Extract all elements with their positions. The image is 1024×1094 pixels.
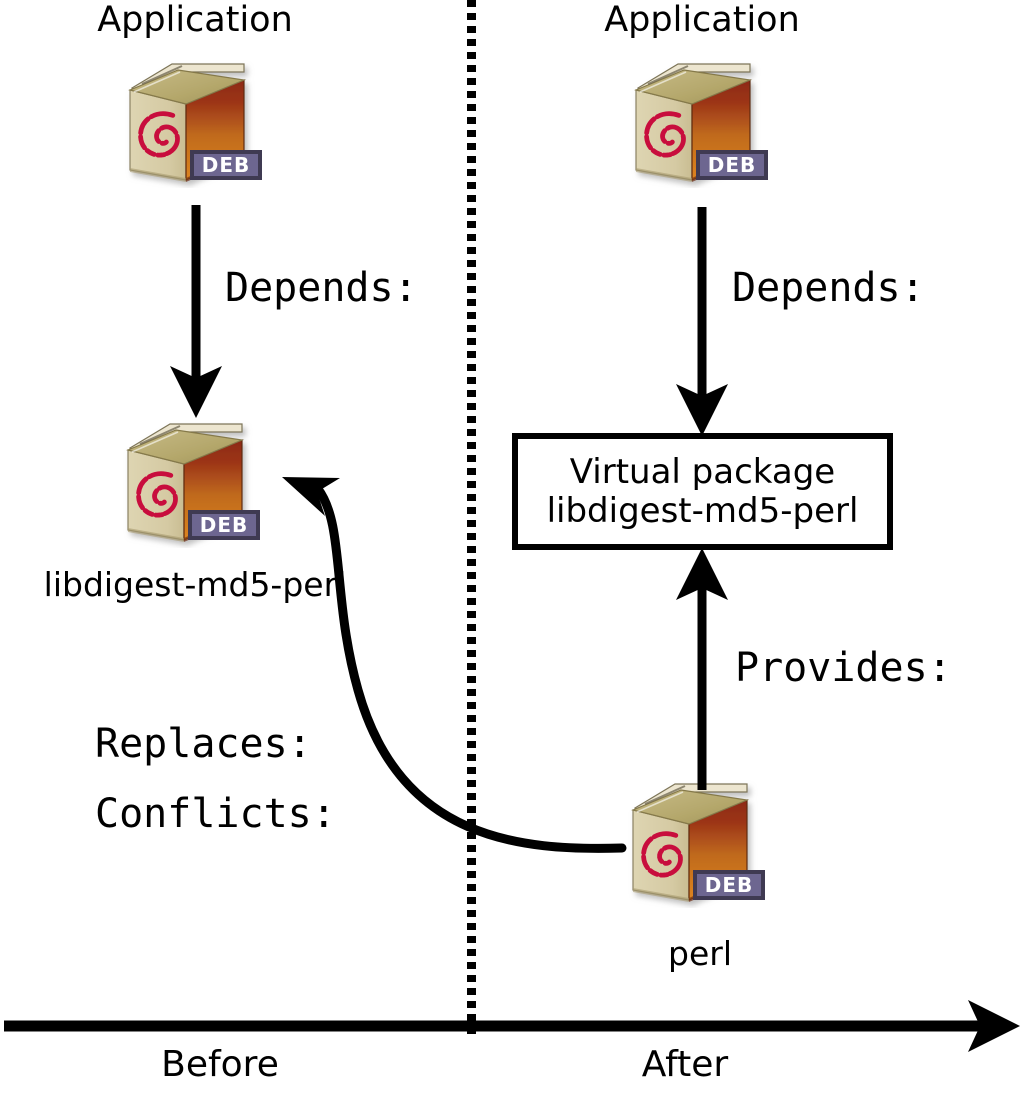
replaces-label: Replaces: (95, 722, 312, 767)
timeline-before-label: Before (110, 1046, 330, 1085)
provides-arrow (676, 548, 728, 790)
timeline-axis (4, 1000, 1020, 1052)
conflicts-label: Conflicts: (95, 792, 336, 837)
after-depends-arrow (676, 207, 728, 436)
after-provider-caption: perl (560, 936, 840, 972)
before-application-title: Application (0, 2, 390, 40)
before-target-caption: libdigest-md5-perl (0, 567, 390, 603)
virtual-package-line-1: Virtual package (570, 453, 835, 491)
before-depends-arrow (170, 205, 222, 418)
before-depends-label: Depends: (225, 266, 418, 311)
virtual-package-box: Virtual package libdigest-md5-perl (512, 433, 893, 550)
after-application-title: Application (512, 2, 892, 40)
before-target-package-icon (118, 418, 266, 548)
provides-label: Provides: (735, 646, 952, 691)
virtual-package-line-2: libdigest-md5-perl (547, 492, 859, 530)
before-application-package-icon (120, 58, 268, 188)
after-provider-package-icon (623, 778, 771, 908)
after-application-package-icon (626, 58, 774, 188)
before-after-divider (467, 0, 476, 1034)
timeline-after-label: After (580, 1046, 790, 1085)
diagram-canvas: DEB Application Depends: libdigest-md5-p… (0, 0, 1024, 1094)
after-depends-label: Depends: (732, 266, 925, 311)
